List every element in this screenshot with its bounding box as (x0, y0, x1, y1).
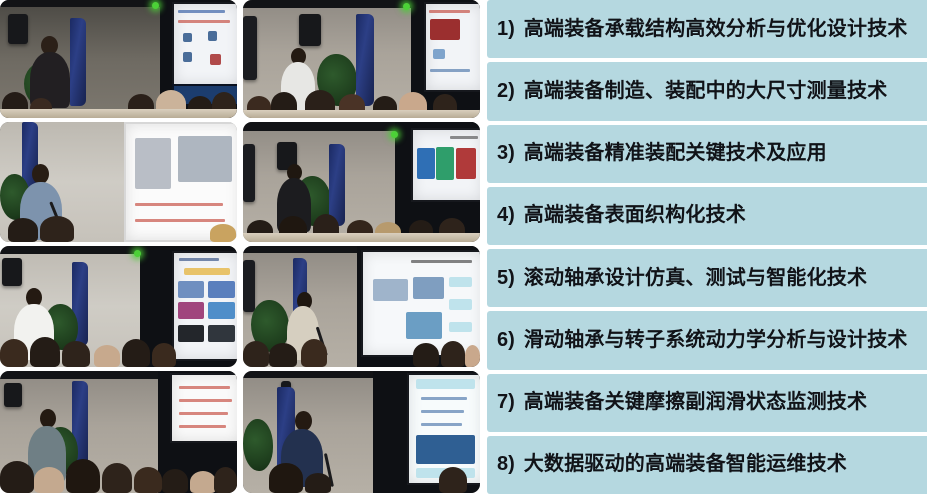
audience-head (122, 339, 150, 367)
screen-machine-photo-2 (178, 136, 232, 182)
topic-text-8: 大数据驱动的高端装备智能运维技术 (524, 453, 847, 476)
photo-row2-left[interactable] (0, 122, 237, 242)
topic-text-3: 高端装备精准装配关键技术及应用 (524, 142, 827, 165)
topic-text-7: 高端装备关键摩擦副润滑状态监测技术 (524, 391, 867, 414)
topic-number-8: 8) (497, 453, 515, 476)
topic-text-4: 高端装备表面织构化技术 (524, 204, 746, 227)
photo-row1-right-content (243, 0, 480, 118)
audience-head (305, 473, 331, 493)
conference-table (243, 233, 480, 242)
wall-speaker-icon (8, 14, 28, 44)
screen-diagram-node-3 (183, 52, 192, 62)
photo-row3-left[interactable] (0, 246, 237, 367)
wall-panel (243, 144, 255, 202)
screen-machine-photo-1 (135, 138, 171, 189)
topic-number-4: 4) (497, 204, 515, 227)
topic-row-6[interactable]: 6) 滑动轴承与转子系统动力学分析与设计技术 (487, 311, 927, 369)
topic-text-1: 高端装备承载结构高效分析与优化设计技术 (524, 18, 908, 41)
audience-head (210, 224, 236, 242)
screen-flow-line-2 (421, 410, 465, 413)
topic-number-5: 5) (497, 267, 515, 290)
photo-row4-left-content (0, 371, 237, 493)
screen-aircraft-image (416, 435, 474, 463)
projection-screen (172, 2, 237, 86)
photo-row3-right-content (243, 246, 480, 367)
screen-title-line (179, 258, 219, 261)
audience-head (214, 467, 237, 493)
screen-header-chip (416, 379, 474, 389)
audience-head (301, 339, 327, 367)
screen-title-line (429, 10, 469, 13)
photo-row2-left-content (0, 122, 237, 242)
topic-text-6: 滑动轴承与转子系统动力学分析与设计技术 (524, 329, 908, 352)
photo-row2-right[interactable] (243, 122, 480, 242)
wall-speaker-icon (4, 383, 22, 407)
wall-speaker-icon (299, 14, 321, 46)
audience-row (0, 444, 237, 493)
status-led-icon (134, 250, 141, 257)
audience-head (134, 467, 162, 493)
conference-table (243, 110, 480, 118)
audience-head (413, 343, 439, 367)
topic-text-5: 滚动轴承设计仿真、测试与智能化技术 (524, 267, 867, 290)
screen-bullet-line-2 (179, 399, 233, 402)
topic-row-1[interactable]: 1) 高端装备承载结构高效分析与优化设计技术 (487, 0, 927, 58)
audience-head (66, 459, 100, 493)
audience-row (0, 213, 237, 242)
screen-photo-thumb (430, 19, 459, 40)
screen-label-chip-1 (449, 277, 473, 287)
photo-row1-left-content (0, 0, 237, 118)
topic-number-3: 3) (497, 142, 515, 165)
audience-head (30, 337, 60, 367)
screen-vehicle-image-3 (178, 302, 204, 319)
audience-head (162, 469, 188, 493)
screen-footer-line (430, 69, 469, 72)
audience-head (441, 341, 465, 367)
status-led-icon (391, 131, 398, 138)
audience-head (94, 345, 120, 367)
audience-head (34, 467, 64, 493)
topic-row-3[interactable]: 3) 高端装备精准装配关键技术及应用 (487, 125, 927, 183)
screen-flow-line-3 (421, 423, 462, 426)
topic-text-2: 高端装备制造、装配中的大尺寸测量技术 (524, 80, 888, 103)
screen-vehicle-image-2 (208, 281, 235, 298)
screen-equipment-image-2 (413, 277, 444, 300)
screen-bullet-line-1 (135, 203, 223, 206)
topic-row-4[interactable]: 4) 高端装备表面织构化技术 (487, 187, 927, 245)
audience-head (243, 341, 269, 367)
screen-bullet-line-1 (179, 386, 230, 389)
photo-collage (0, 0, 481, 494)
audience-head (439, 467, 467, 493)
screen-equipment-image-1 (373, 279, 409, 302)
photo-row1-right[interactable] (243, 0, 480, 118)
audience-head (190, 471, 216, 493)
screen-banner (184, 268, 230, 275)
topic-number-7: 7) (497, 391, 515, 414)
topic-row-8[interactable]: 8) 大数据驱动的高端装备智能运维技术 (487, 436, 927, 494)
screen-sim-image-3 (456, 148, 477, 179)
audience-head (8, 218, 38, 242)
screen-label-chip-2 (449, 299, 473, 309)
audience-head (269, 343, 297, 367)
photo-row4-left[interactable] (0, 371, 237, 493)
speaker-head (295, 411, 312, 431)
screen-subtitle-line (178, 20, 230, 23)
audience-row (243, 327, 480, 367)
topic-row-5[interactable]: 5) 滚动轴承设计仿真、测试与智能化技术 (487, 249, 927, 307)
topic-number-2: 2) (497, 80, 515, 103)
screen-title-line (450, 136, 478, 139)
audience-head (465, 345, 480, 367)
screen-bullet-line-3 (179, 412, 229, 415)
topic-number-6: 6) (497, 329, 515, 352)
screen-diagram (433, 49, 445, 59)
screen-diagram-node-2 (208, 31, 217, 41)
screen-diagram-node-4 (210, 54, 220, 65)
audience-row (0, 327, 237, 367)
status-led-icon (152, 2, 159, 9)
status-led-icon (403, 3, 410, 10)
photo-row3-left-content (0, 246, 237, 367)
topic-number-1: 1) (497, 18, 515, 41)
photo-row1-left[interactable] (0, 0, 237, 118)
audience-head (0, 339, 28, 367)
photo-row4-right-content (243, 371, 480, 493)
wall-speaker-icon (2, 258, 22, 286)
photo-row3-right[interactable] (243, 246, 480, 367)
audience-head (269, 463, 303, 493)
audience-head (40, 216, 74, 242)
wall-panel (243, 16, 257, 80)
audience-head (0, 461, 34, 493)
audience-head (62, 341, 90, 367)
screen-title-line (411, 260, 473, 263)
wall-panel (243, 260, 255, 312)
screen-sim-image-2 (436, 147, 454, 181)
screen-bullet-line-4 (179, 425, 226, 428)
screen-flow-line-1 (421, 397, 468, 400)
projection-screen (411, 128, 480, 202)
screen-vehicle-image-1 (178, 281, 204, 298)
screen-sim-image-1 (417, 148, 435, 179)
topic-row-7[interactable]: 7) 高端装备关键摩擦副润滑状态监测技术 (487, 374, 927, 432)
audience-row (243, 461, 480, 493)
audience-head (152, 343, 176, 367)
projection-screen (170, 373, 237, 443)
conference-table (0, 109, 237, 118)
screen-diagram-node-1 (183, 33, 192, 43)
topic-row-2[interactable]: 2) 高端装备制造、装配中的大尺寸测量技术 (487, 62, 927, 120)
screen-title-line (178, 10, 225, 13)
screen-vehicle-image-4 (208, 302, 235, 319)
photo-row4-right[interactable] (243, 371, 480, 493)
audience-head (102, 463, 132, 493)
slide-root: 1) 高端装备承载结构高效分析与优化设计技术 2) 高端装备制造、装配中的大尺寸… (0, 0, 927, 494)
topic-list: 1) 高端装备承载结构高效分析与优化设计技术 2) 高端装备制造、装配中的大尺寸… (481, 0, 927, 494)
photo-row2-right-content (243, 122, 480, 242)
speaker-head (32, 164, 49, 184)
